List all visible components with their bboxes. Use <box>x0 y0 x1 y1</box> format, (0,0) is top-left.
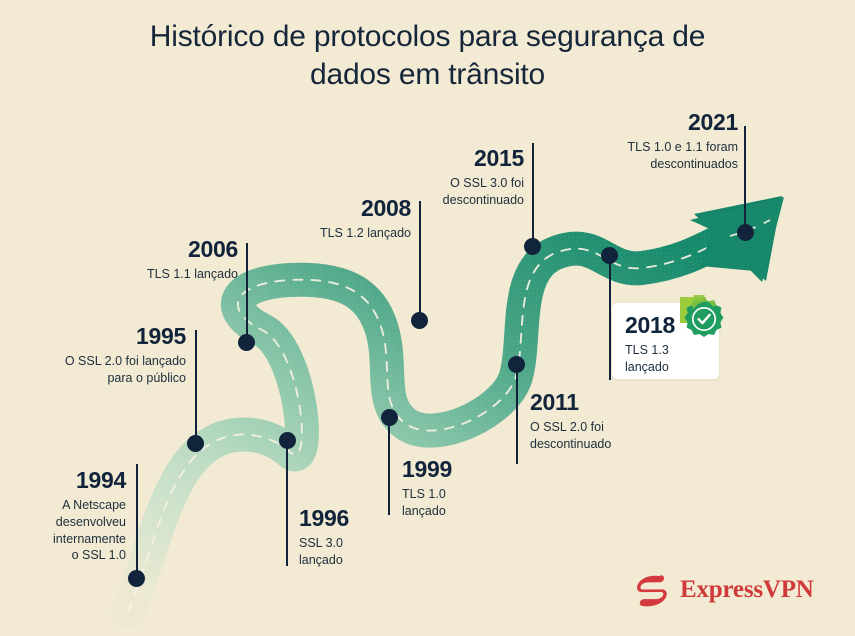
marker-dot[interactable] <box>524 238 541 255</box>
marker-year: 1999 <box>402 457 542 482</box>
marker-desc: TLS 1.0 e 1.1 foram descontinuados <box>562 139 738 173</box>
marker-year: 2015 <box>352 146 524 171</box>
marker-label-1994: 1994 A Netscape desenvolveu internamente… <box>0 468 126 564</box>
marker-stem <box>388 423 390 515</box>
marker-dot[interactable] <box>411 312 428 329</box>
marker-year: 2018 <box>625 312 675 339</box>
marker-dot[interactable] <box>238 334 255 351</box>
marker-desc: O SSL 3.0 foi descontinuado <box>352 175 524 209</box>
marker-stem <box>516 370 518 464</box>
expressvpn-wordmark: ExpressVPN <box>680 576 814 604</box>
marker-stem <box>136 464 138 580</box>
marker-stem <box>744 126 746 236</box>
marker-label-1995: 1995 O SSL 2.0 foi lançado para o públic… <box>0 324 186 387</box>
marker-dot[interactable] <box>601 247 618 264</box>
marker-label-1999: 1999 TLS 1.0 lançado <box>402 457 542 520</box>
marker-dot[interactable] <box>128 570 145 587</box>
marker-dot[interactable] <box>279 432 296 449</box>
marker-desc: O SSL 2.0 foi lançado para o público <box>0 353 186 387</box>
marker-dot[interactable] <box>508 356 525 373</box>
marker-label-2021: 2021 TLS 1.0 e 1.1 foram descontinuados <box>562 110 738 173</box>
marker-stem <box>195 330 197 442</box>
marker-desc: TLS 1.1 lançado <box>60 266 238 283</box>
marker-dot[interactable] <box>187 435 204 452</box>
infographic-canvas: Histórico de protocolos para segurança d… <box>0 0 855 636</box>
marker-dot[interactable] <box>737 224 754 241</box>
marker-year: 2011 <box>530 390 700 415</box>
marker-label-2006: 2006 TLS 1.1 lançado <box>60 237 238 283</box>
marker-year: 1994 <box>0 468 126 493</box>
marker-stem <box>246 243 248 343</box>
marker-stem <box>532 143 534 247</box>
marker-year: 2006 <box>60 237 238 262</box>
marker-label-2015: 2015 O SSL 3.0 foi descontinuado <box>352 146 524 209</box>
expressvpn-logo[interactable]: ExpressVPN <box>632 570 792 610</box>
marker-stem <box>609 260 611 380</box>
marker-desc: TLS 1.3 lançado <box>625 342 669 376</box>
marker-desc: A Netscape desenvolveu internamente o SS… <box>0 497 126 565</box>
expressvpn-e-logo-icon <box>632 572 676 612</box>
marker-stem <box>419 201 421 321</box>
marker-year: 1995 <box>0 324 186 349</box>
verified-rosette-check-icon <box>680 295 728 343</box>
marker-year: 2021 <box>562 110 738 135</box>
marker-desc: O SSL 2.0 foi descontinuado <box>530 419 700 453</box>
marker-label-2011: 2011 O SSL 2.0 foi descontinuado <box>530 390 700 453</box>
marker-dot[interactable] <box>381 409 398 426</box>
marker-stem <box>286 446 288 566</box>
marker-desc: TLS 1.0 lançado <box>402 486 542 520</box>
marker-desc: TLS 1.2 lançado <box>233 225 411 242</box>
marker-desc: SSL 3.0 lançado <box>299 535 439 569</box>
